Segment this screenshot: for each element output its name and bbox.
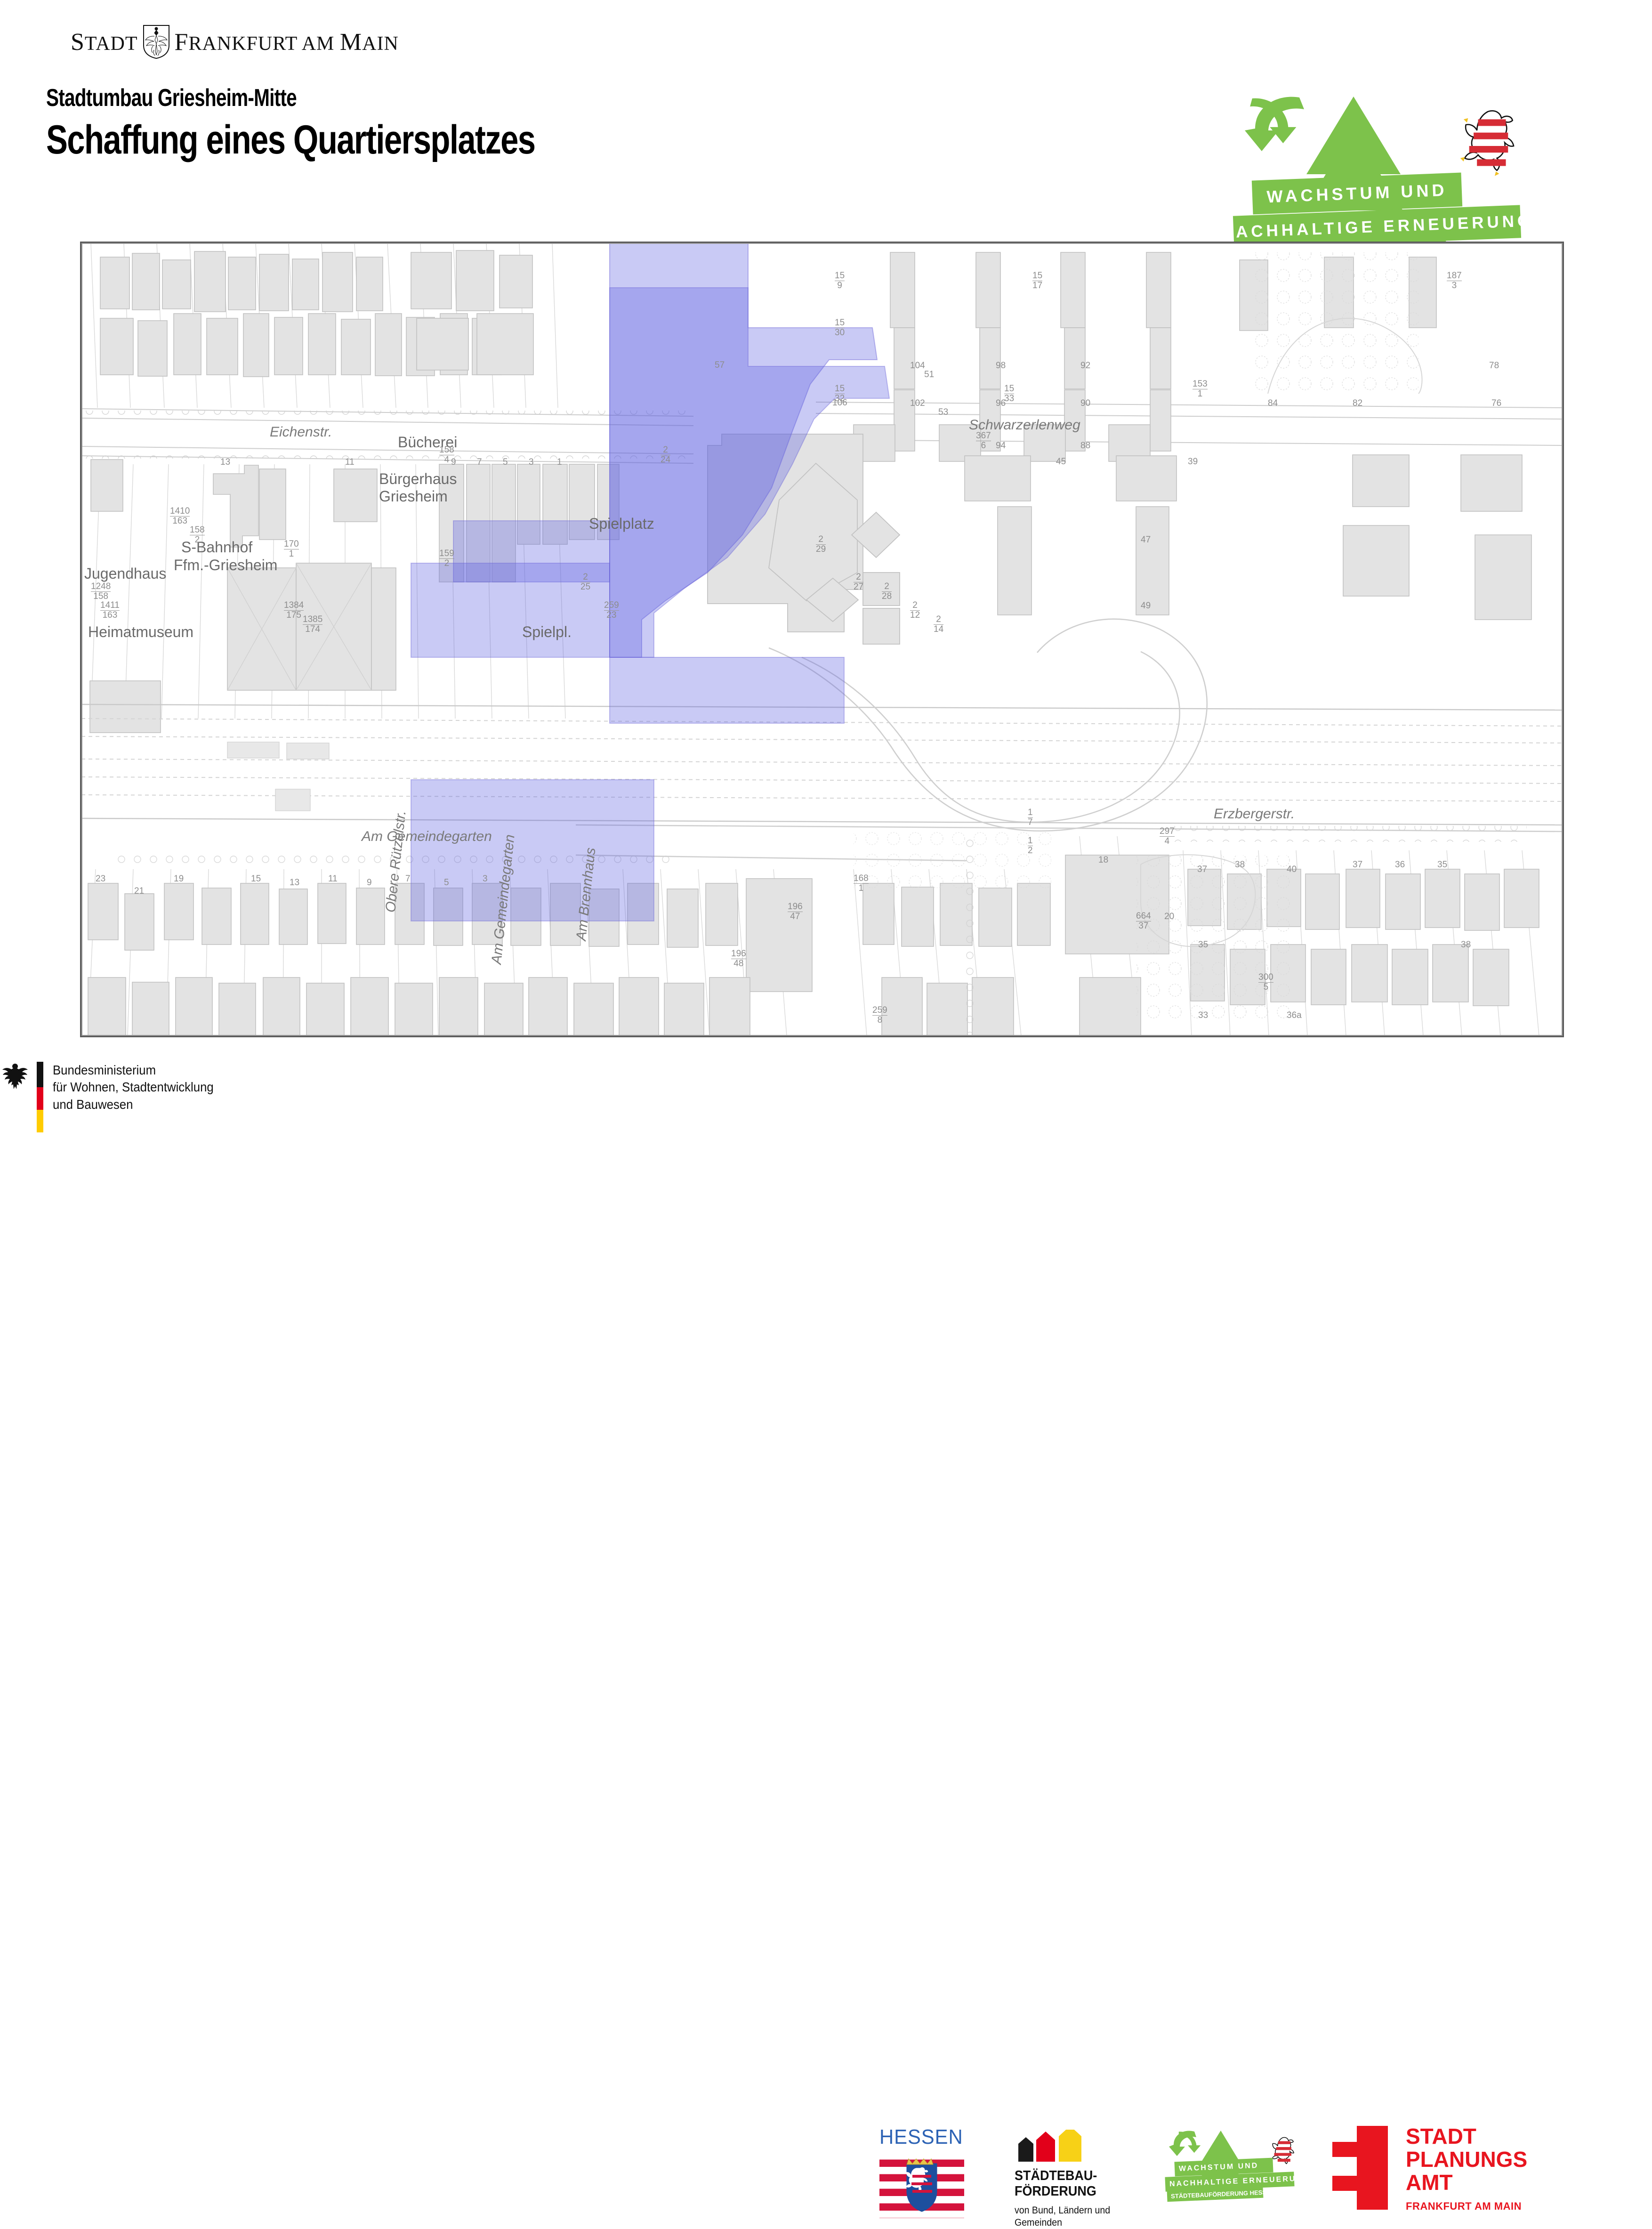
cadastral-map[interactable]: Eichenstr. Schwarzerlenweg Erzbergerstr.…	[80, 242, 1564, 1037]
bundesministerium-logo: Bundesministerium für Wohnen, Stadtentwi…	[0, 1062, 1652, 1132]
bmwsb-line1: Bundesministerium	[53, 1062, 214, 1079]
staedtebau-title: STÄDTEBAU- FÖRDERUNG	[1015, 2168, 1155, 2200]
spa-subline: FRANKFURT AM MAIN	[1406, 2200, 1527, 2213]
city-wordmark-left: STADT	[71, 28, 138, 56]
bmwsb-text: Bundesministerium für Wohnen, Stadtentwi…	[53, 1062, 214, 1113]
spa-line3: AMT	[1406, 2171, 1527, 2194]
footer-logo-row: Bundesministerium für Wohnen, Stadtentwi…	[0, 1062, 1652, 1161]
hessen-flag	[879, 2152, 964, 2218]
map-canvas	[81, 243, 1563, 1036]
spa-line2: PLANUNGS	[1406, 2148, 1527, 2171]
city-wordmark-right: FRANKFURT AM MAIN	[175, 28, 399, 56]
staedtebaufoerderung-logo: STÄDTEBAU- FÖRDERUNG von Bund, Ländern u…	[1015, 2130, 1165, 2229]
staedtebau-sub1: von Bund, Ländern und	[1015, 2205, 1155, 2217]
bmwsb-line2: für Wohnen, Stadtentwicklung	[53, 1079, 214, 1096]
staedtebau-sub2: Gemeinden	[1015, 2217, 1155, 2229]
stadtplanungsamt-text: STADT PLANUNGS AMT FRANKFURT AM MAIN	[1406, 2125, 1527, 2213]
hessen-shield-lion-icon	[904, 2157, 940, 2213]
three-houses-icon	[1015, 2130, 1097, 2162]
frankfurt-eagle-crest-icon	[143, 24, 170, 59]
project-subtitle: Stadtumbau Griesheim-Mitte	[46, 84, 523, 112]
page-title: Schaffung eines Quartiersplatzes	[46, 117, 535, 163]
stadtplanungsamt-mark-icon	[1332, 2125, 1388, 2210]
city-logo: STADT FRANKFURT AM MAIN	[71, 24, 399, 59]
german-flag-bar-icon	[37, 1062, 43, 1132]
hessen-lion-icon	[1460, 111, 1514, 176]
hessen-logo: HESSEN	[879, 2127, 969, 2218]
recycle-arrow-icon	[1245, 97, 1304, 151]
bmwsb-line3: und Bauwesen	[53, 1096, 214, 1113]
staedtebau-sub: von Bund, Ländern und Gemeinden	[1015, 2205, 1155, 2229]
hessen-wordmark: HESSEN	[879, 2127, 965, 2148]
page-title-block: Stadtumbau Griesheim-Mitte Schaffung ein…	[46, 84, 657, 163]
wachstum-logo-small: WACHSTUM UND NACHHALTIGE ERNEUERUNG STÄD…	[1165, 2127, 1306, 2209]
staedtebau-line1: STÄDTEBAU-	[1015, 2168, 1155, 2184]
stadtplanungsamt-logo: STADT PLANUNGS AMT FRANKFURT AM MAIN	[1332, 2125, 1527, 2213]
staedtebau-line2: FÖRDERUNG	[1015, 2184, 1155, 2199]
map-vector-layer	[81, 243, 1563, 1036]
bundesadler-icon	[0, 1062, 30, 1096]
spa-line1: STADT	[1406, 2125, 1527, 2148]
